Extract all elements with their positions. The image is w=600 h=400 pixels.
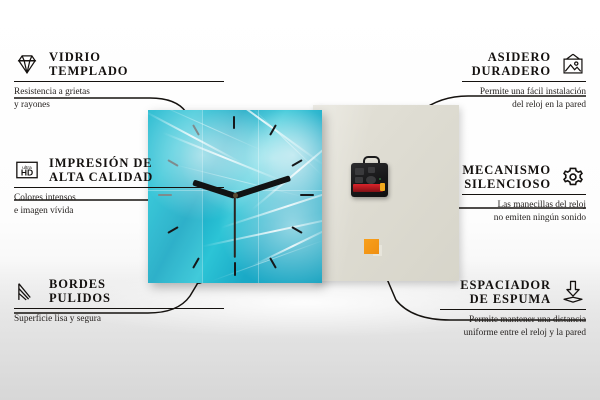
feature-title-line1: MECANISMO: [462, 163, 551, 177]
clock-battery: [353, 184, 383, 192]
feature-espaciador-de-espuma: ESPACIADOR DE ESPUMA Permite mantener un…: [440, 278, 586, 340]
ultra-hd-big-label: HD: [21, 168, 33, 178]
feature-asidero-duradero: ASIDERO DURADERO Permite una fácil insta…: [462, 50, 586, 112]
feature-title-line2: PULIDOS: [49, 291, 111, 305]
ultra-hd-icon: ultra HD: [14, 157, 40, 183]
feature-rule: [14, 308, 224, 309]
feature-rule: [462, 194, 586, 195]
feature-desc: Superficie lisa y segura: [14, 313, 224, 326]
feature-desc-line2: y rayones: [14, 99, 224, 112]
feature-title-line2: ALTA CALIDAD: [49, 170, 153, 184]
feature-desc: Resistencia a grietas y rayones: [14, 86, 224, 111]
feature-title-line2: TEMPLADO: [49, 64, 128, 78]
feature-desc-line1: Las manecillas del reloj: [497, 199, 586, 212]
feature-rule: [462, 81, 586, 82]
down-arrow-spacer-icon: [560, 279, 586, 305]
feature-bordes-pulidos: BORDES PULIDOS Superficie lisa y segura: [14, 277, 224, 326]
clock-second-hand: [234, 196, 236, 258]
infographic-canvas: VIDRIO TEMPLADO Resistencia a grietas y …: [0, 0, 600, 400]
feature-desc: Colores intensos e imagen vívida: [14, 192, 224, 217]
foam-spacer: [364, 239, 379, 254]
feature-desc-line1: Colores intensos: [14, 192, 224, 205]
feature-title-line2: DURADERO: [472, 64, 551, 78]
feature-desc: Permite una fácil instalación del reloj …: [462, 86, 586, 112]
feature-desc-line1: Resistencia a grietas: [14, 86, 224, 99]
picture-frame-hanger-icon: [560, 51, 586, 77]
feature-title-line1: ASIDERO: [472, 50, 551, 64]
feature-desc-line1: Permite mantener una distancia: [469, 314, 586, 327]
feature-desc-line1: Superficie lisa y segura: [14, 313, 224, 326]
feature-title-line1: VIDRIO: [49, 50, 128, 64]
feature-vidrio-templado: VIDRIO TEMPLADO Resistencia a grietas y …: [14, 50, 224, 111]
feature-rule: [14, 187, 224, 188]
feature-desc-line2: uniforme entre el reloj y la pared: [464, 327, 586, 340]
feature-rule: [440, 309, 586, 310]
feature-desc-line2: e imagen vívida: [14, 205, 224, 218]
feature-rule: [14, 81, 224, 82]
feature-title-line1: BORDES: [49, 277, 111, 291]
clock-center-pin: [233, 193, 238, 198]
feature-desc-line2: no emiten ningún sonido: [494, 212, 586, 225]
feature-desc-line2: del reloj en la pared: [512, 99, 586, 112]
feature-mecanismo-silencioso: MECANISMO SILENCIOSO Las manecillas del …: [462, 163, 586, 225]
gear-icon: [560, 164, 586, 190]
feature-desc: Las manecillas del reloj no emiten ningú…: [462, 199, 586, 225]
feature-impresion-alta-calidad: ultra HD IMPRESIÓN DE ALTA CALIDAD Color…: [14, 156, 224, 217]
feature-title-line1: IMPRESIÓN DE: [49, 156, 153, 170]
polished-edges-icon: [14, 278, 40, 304]
feature-title-line2: DE ESPUMA: [460, 292, 551, 306]
feature-desc: Permite mantener una distancia uniforme …: [440, 314, 586, 340]
diamond-icon: [14, 51, 40, 77]
battery-positive-terminal: [380, 183, 385, 191]
feature-title-line2: SILENCIOSO: [462, 177, 551, 191]
feature-desc-line1: Permite una fácil instalación: [480, 86, 586, 99]
feature-title-line1: ESPACIADOR: [460, 278, 551, 292]
